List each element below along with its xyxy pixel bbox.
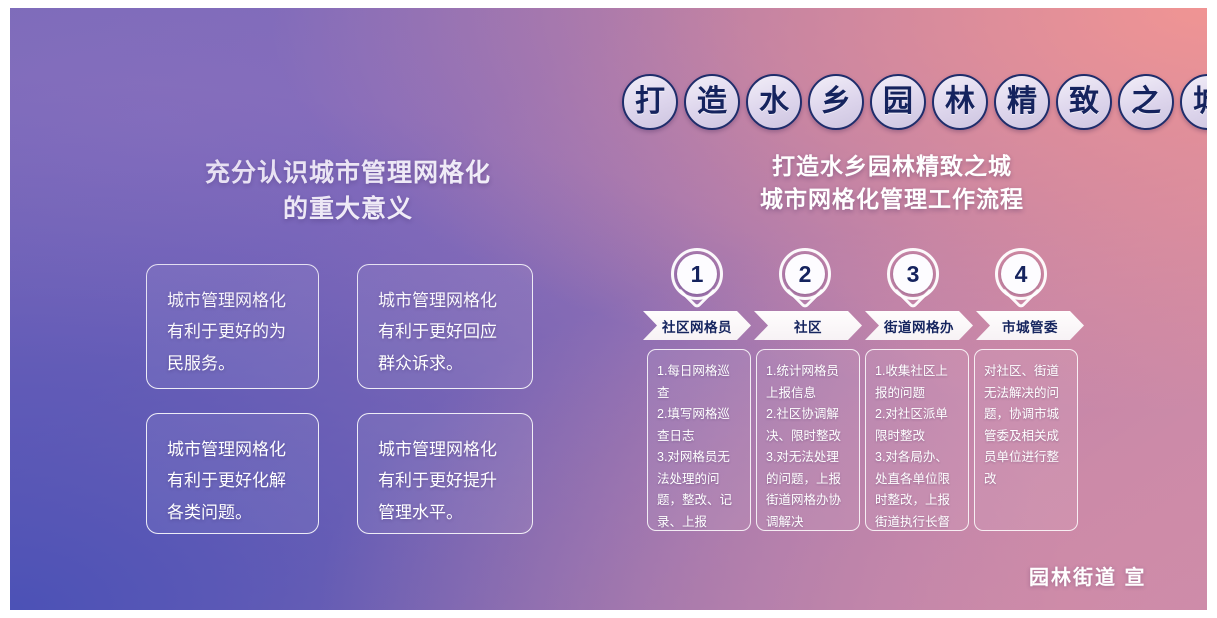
benefit-card: 城市管理网格化有利于更好的为民服务。 — [146, 264, 319, 389]
publisher-signature: 园林街道 宣 — [1029, 561, 1147, 590]
benefit-card: 城市管理网格化有利于更好提升管理水平。 — [357, 413, 533, 534]
title-badge-char: 水 — [746, 74, 802, 130]
badge-title-row: 打 造 水 乡 园 林 精 致 之 城 — [622, 74, 1207, 130]
flow-stage-chevron: 街道网格办 — [865, 311, 973, 340]
step-number: 3 — [893, 254, 933, 294]
benefit-card: 城市管理网格化有利于更好回应群众诉求。 — [357, 264, 533, 389]
step-number: 4 — [1001, 254, 1041, 294]
step-pin-marker: 1 — [671, 248, 727, 310]
title-badge-char: 致 — [1056, 74, 1112, 130]
title-badge-char: 乡 — [808, 74, 864, 130]
flow-stage-chevron: 社区 — [754, 311, 862, 340]
title-badge-char: 园 — [870, 74, 926, 130]
poster-canvas: 打 造 水 乡 园 林 精 致 之 城 充分认识城市管理网格化的重大意义 打造水… — [10, 8, 1207, 610]
step-pin-marker: 3 — [887, 248, 943, 310]
benefit-card: 城市管理网格化有利于更好化解各类问题。 — [146, 413, 319, 534]
title-badge-char: 之 — [1118, 74, 1174, 130]
title-badge-char: 打 — [622, 74, 678, 130]
right-section-heading: 打造水乡园林精致之城城市网格化管理工作流程 — [658, 150, 1126, 215]
flow-chevron-strip: 社区网格员 社区 街道网格办 市城管委 — [643, 311, 1084, 340]
step-number: 1 — [677, 254, 717, 294]
step-number: 2 — [785, 254, 825, 294]
flow-detail-box: 1.统计网格员上报信息2.社区协调解决、限时整改3.对无法处理的问题，上报街道网… — [756, 349, 860, 531]
title-badge-char: 林 — [932, 74, 988, 130]
step-pin-marker: 2 — [779, 248, 835, 310]
flow-stage-chevron: 市城管委 — [976, 311, 1084, 340]
flow-detail-box: 1.收集社区上报的问题2.对社区派单限时整改3.对各局办、处直各单位限时整改，上… — [865, 349, 969, 531]
title-badge-char: 精 — [994, 74, 1050, 130]
flow-detail-box: 1.每日网格巡查2.填写网格巡查日志3.对网格员无法处理的问题，整改、记录、上报 — [647, 349, 751, 531]
flow-detail-box: 对社区、街道无法解决的问题，协调市城管委及相关成员单位进行整改 — [974, 349, 1078, 531]
step-pin-marker: 4 — [995, 248, 1051, 310]
left-section-heading: 充分认识城市管理网格化的重大意义 — [128, 156, 568, 227]
title-badge-char: 造 — [684, 74, 740, 130]
title-badge-char: 城 — [1180, 74, 1207, 130]
flow-stage-chevron: 社区网格员 — [643, 311, 751, 340]
